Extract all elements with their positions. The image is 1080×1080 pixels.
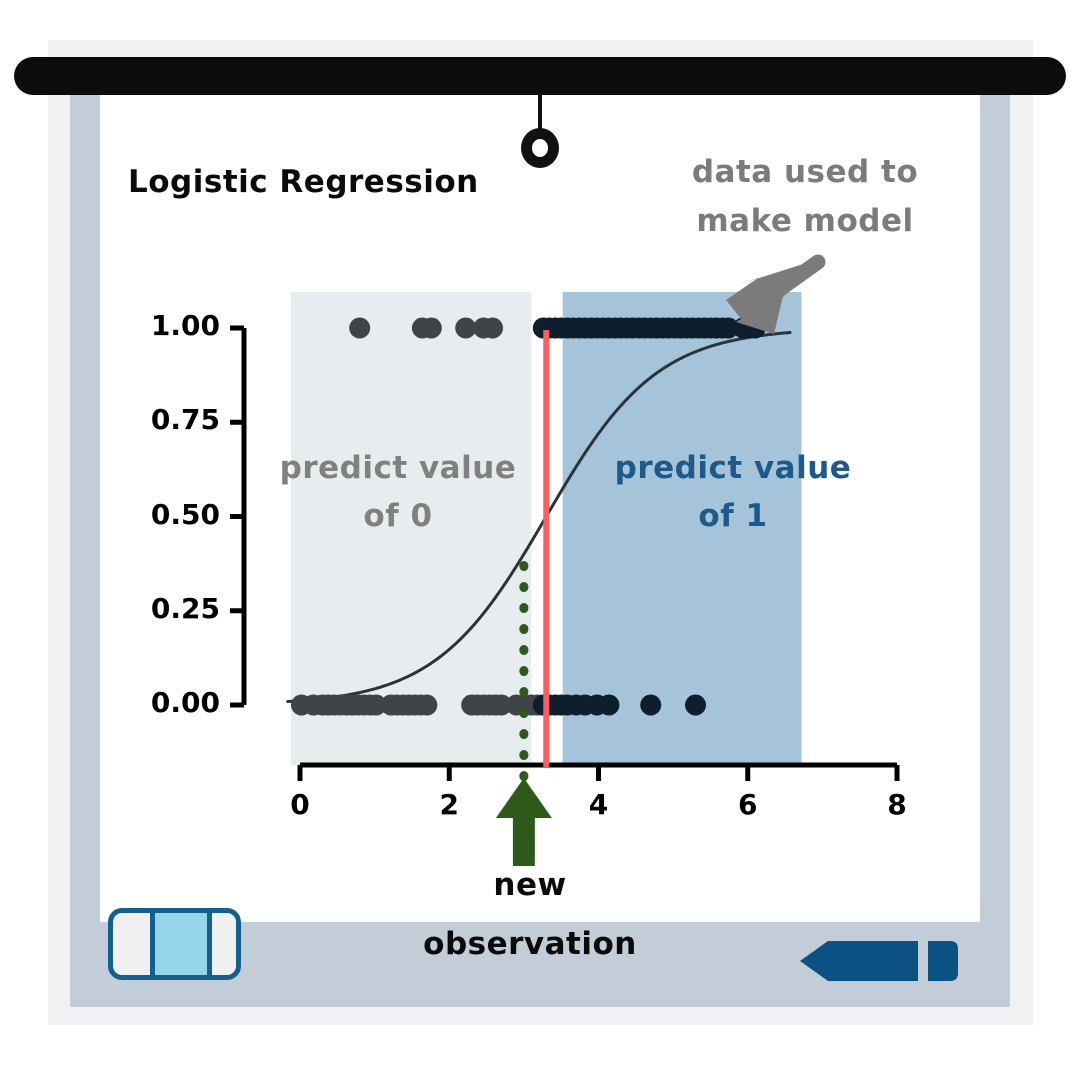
data-point-class-0	[685, 695, 706, 716]
x-tick-label: 0	[270, 788, 330, 821]
eraser-band	[150, 912, 212, 980]
data-point-class-1	[482, 318, 503, 339]
x-tick-label: 6	[718, 788, 778, 821]
region-label-predict-one: predict valueof 1	[588, 444, 878, 540]
page-title: Logistic Regression	[128, 164, 479, 200]
x-tick-label: 2	[419, 788, 479, 821]
whiteboard-illustration: Logistic Regression data used tomake mod…	[0, 0, 1080, 1080]
pencil-icon[interactable]	[800, 936, 960, 986]
data-point-class-0	[640, 695, 661, 716]
data-point-class-0	[416, 695, 437, 716]
data-point-class-1	[349, 318, 370, 339]
y-tick-label: 1.00	[128, 309, 220, 342]
region-label-predict-zero: predict valueof 0	[262, 444, 534, 540]
y-tick-label: 0.00	[128, 686, 220, 719]
y-tick-label: 0.25	[128, 592, 220, 625]
annotation-data-used-to-make-model: data used tomake model	[640, 148, 970, 246]
x-tick-label: 8	[867, 788, 927, 821]
annotation-new-observation: newobservation	[370, 856, 690, 974]
data-point-class-1	[421, 318, 442, 339]
data-point-class-0	[598, 695, 619, 716]
y-tick-label: 0.75	[128, 403, 220, 436]
x-tick-label: 4	[569, 788, 629, 821]
eraser-icon[interactable]	[108, 908, 241, 980]
new-observation-arrow-icon	[496, 778, 552, 866]
y-tick-label: 0.50	[128, 498, 220, 531]
data-point-class-1	[455, 318, 476, 339]
